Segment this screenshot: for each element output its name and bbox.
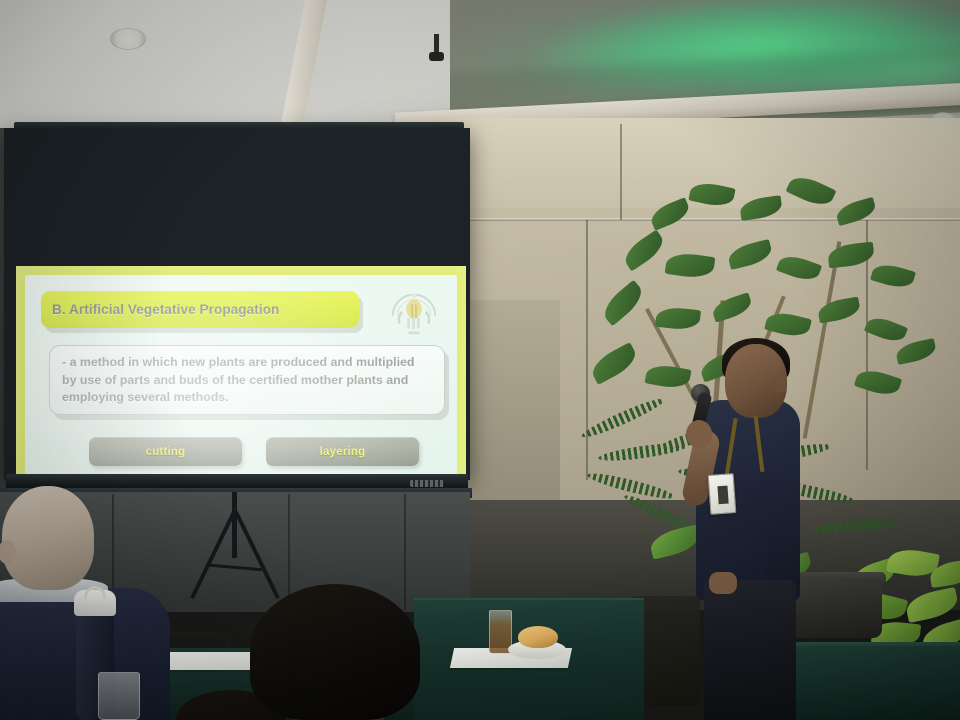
leaf <box>710 292 754 322</box>
leaf <box>665 251 716 280</box>
bread-roll <box>518 626 558 648</box>
leaf <box>894 338 937 365</box>
cable-loop <box>160 632 230 648</box>
screen-bar-vent <box>410 480 444 487</box>
speaker-hand <box>686 420 712 448</box>
seminar-room-photo: B. Artificial Vegetative Propagation <box>0 0 960 720</box>
stage-panel-seam-2 <box>288 494 290 610</box>
leaf <box>817 297 862 324</box>
badge-photo <box>717 486 728 505</box>
leaf <box>688 180 735 210</box>
method-label: layering <box>320 446 366 458</box>
leaf <box>827 242 875 269</box>
slide-title: B. Artificial Vegetative Propagation <box>41 302 279 317</box>
leaf <box>870 261 916 292</box>
stage-panel-seam-3 <box>404 494 406 610</box>
leaf <box>776 251 822 284</box>
leaf <box>764 309 812 340</box>
slide-body-box: - a method in which new plants are produ… <box>49 345 445 415</box>
leaf <box>904 587 960 623</box>
leaf <box>648 197 693 231</box>
leaf <box>645 362 692 390</box>
method-chip-cutting: cutting <box>89 437 242 466</box>
speaker-ear <box>775 378 786 393</box>
attendee-dark-hair-center <box>250 584 420 720</box>
foreground-glass <box>98 672 140 720</box>
slide-body-text: - a method in which new plants are produ… <box>62 354 432 407</box>
leaf <box>864 313 908 346</box>
leaf <box>620 229 668 271</box>
planter-pot <box>786 578 882 638</box>
leaf <box>834 197 878 226</box>
leaf <box>726 239 774 270</box>
speaker-arm <box>766 438 800 588</box>
leaf <box>739 195 783 221</box>
leaf <box>648 524 702 559</box>
speaker-legs <box>704 580 796 720</box>
slide-title-box: B. Artificial Vegetative Propagation <box>41 291 359 328</box>
method-chip-layering: layering <box>266 437 419 466</box>
palm-frond <box>579 394 666 442</box>
leaf <box>655 306 701 331</box>
projection-screen-frame: B. Artificial Vegetative Propagation <box>4 128 470 480</box>
leaf <box>854 366 902 400</box>
tripod-center-post <box>232 492 237 558</box>
seal-emblem-logo <box>385 283 443 341</box>
attendee-head-bald <box>2 486 94 590</box>
ceiling-sprinkler <box>434 34 439 54</box>
downlight-5 <box>110 28 146 50</box>
id-badge <box>708 473 737 515</box>
method-label: cutting <box>146 446 186 458</box>
leaf <box>587 342 640 385</box>
leaf <box>598 280 647 326</box>
speaker-pocketed-hand <box>709 572 737 594</box>
palm-frond <box>810 515 901 536</box>
